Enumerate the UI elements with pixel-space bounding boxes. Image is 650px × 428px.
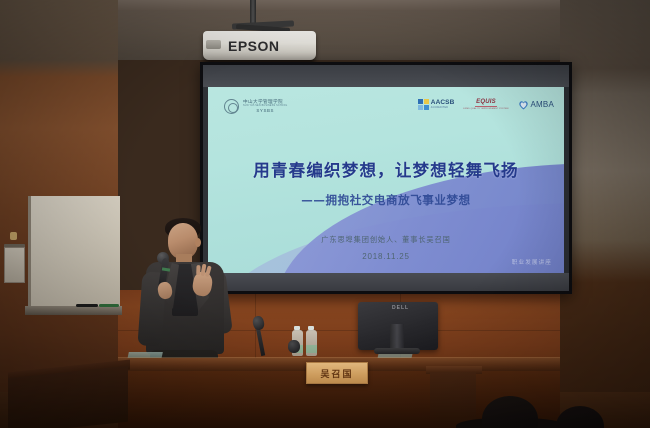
equis-sub: EFMD QUALITY IMPROVEMENT SYSTEM	[463, 108, 508, 110]
equis-divider	[475, 106, 497, 107]
screen-letterbox-top	[203, 65, 569, 89]
accreditation-logos: AACSB ACCREDITED EQUIS EFMD QUALITY IMPR…	[418, 99, 554, 110]
photo-scene: EPSON 中山大学管理学院 SUN YAT-SEN BUSINESS SCHO…	[0, 0, 650, 428]
screen-letterbox-bottom	[203, 273, 569, 291]
amba-heart-icon	[518, 100, 529, 110]
projection-screen: 中山大学管理学院 SUN YAT-SEN BUSINESS SCHOOL SYS…	[200, 62, 572, 294]
projector-brand-label: EPSON	[228, 38, 298, 54]
monitor-brand-label: DELL	[392, 305, 409, 311]
aacsb-mark-icon	[418, 99, 429, 110]
whiteboard-tray	[25, 306, 122, 315]
speaker-ear	[195, 238, 201, 247]
school-logo-text: 中山大学管理学院 SUN YAT-SEN BUSINESS SCHOOL SYS…	[243, 100, 287, 114]
equis-name: EQUIS	[476, 99, 496, 105]
monitor-stand-neck	[390, 324, 404, 350]
screen-surface: 中山大学管理学院 SUN YAT-SEN BUSINESS SCHOOL SYS…	[203, 65, 569, 291]
presentation-slide: 中山大学管理学院 SUN YAT-SEN BUSINESS SCHOOL SYS…	[208, 87, 564, 273]
aacsb-name: AACSB	[431, 100, 455, 107]
school-logo: 中山大学管理学院 SUN YAT-SEN BUSINESS SCHOOL SYS…	[224, 99, 287, 114]
slide-footer: 职业发展讲座	[512, 258, 552, 266]
slide-title: 用青春编织梦想，让梦想轻舞飞扬	[208, 157, 564, 181]
wall-knob	[10, 232, 17, 240]
aacsb-logo: AACSB ACCREDITED	[418, 99, 455, 110]
marker-black-icon	[76, 304, 98, 307]
projector-lens-icon	[206, 40, 221, 49]
equis-logo: EQUIS EFMD QUALITY IMPROVEMENT SYSTEM	[463, 99, 508, 110]
name-placard: 吴召国	[306, 362, 368, 384]
water-bottle-cap	[308, 326, 314, 330]
amba-logo: AMBA	[518, 100, 554, 110]
screen-letterbox-right	[564, 87, 569, 273]
slide-date: 2018.11.25	[208, 252, 564, 261]
whiteboard	[28, 196, 120, 310]
amba-name: AMBA	[531, 100, 554, 109]
aacsb-sub: ACCREDITED	[431, 107, 455, 109]
table-microphone-base-icon	[288, 340, 300, 353]
school-seal-icon	[224, 99, 239, 114]
slide-subtitle: ——拥抱社交电商放飞事业梦想	[208, 192, 564, 208]
right-wall	[560, 0, 650, 428]
water-bottle-label	[306, 345, 317, 353]
monitor-stand-base	[374, 348, 420, 354]
marker-green-icon	[99, 304, 119, 307]
water-bottle-cap	[294, 326, 300, 330]
clipboard	[4, 247, 25, 283]
name-placard-text: 吴召国	[320, 367, 353, 380]
school-abbr: SYSBS	[243, 109, 287, 113]
aacsb-label: AACSB ACCREDITED	[431, 100, 455, 110]
slide-presenter: 广东思埠集团创始人、董事长吴召国	[208, 235, 564, 245]
